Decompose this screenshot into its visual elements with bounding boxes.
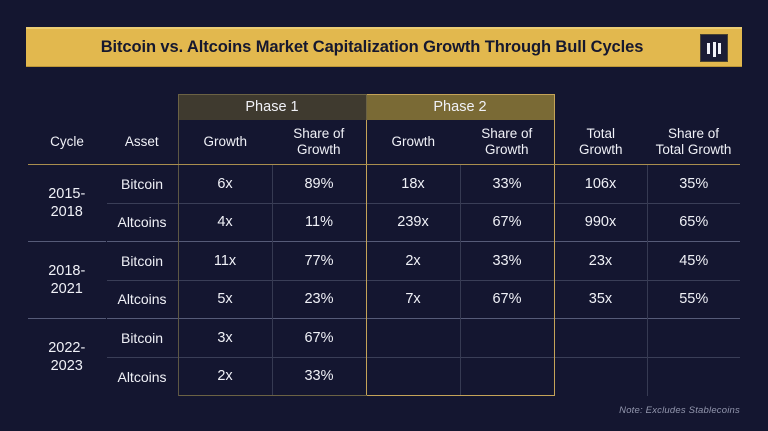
column-header-total-share: Share ofTotal Growth <box>647 120 740 165</box>
cell-p1-growth: 5x <box>178 280 272 319</box>
cell-p1-share: 33% <box>272 357 366 396</box>
cell-total-growth: 23x <box>554 242 647 281</box>
cell-p1-growth: 2x <box>178 357 272 396</box>
asset-label: Bitcoin <box>106 165 178 204</box>
cell-total-share <box>647 357 740 396</box>
table-row: 2015-2018Bitcoin6x89%18x33%106x35% <box>28 165 740 204</box>
cell-p2-growth: 18x <box>366 165 460 204</box>
cell-p1-growth: 6x <box>178 165 272 204</box>
cell-p2-growth: 7x <box>366 280 460 319</box>
cell-total-growth: 35x <box>554 280 647 319</box>
table-row: Altcoins5x23%7x67%35x55% <box>28 280 740 319</box>
cell-total-growth <box>554 357 647 396</box>
cell-p2-share: 67% <box>460 280 554 319</box>
three-bars-logo-icon <box>700 34 728 62</box>
asset-label: Altcoins <box>106 280 178 319</box>
cell-p1-growth: 4x <box>178 203 272 242</box>
cell-p2-share <box>460 319 554 358</box>
total-share-spacer <box>647 95 740 120</box>
cell-total-share: 45% <box>647 242 740 281</box>
column-header-total-growth: TotalGrowth <box>554 120 647 165</box>
cell-p2-growth <box>366 319 460 358</box>
cell-total-share: 55% <box>647 280 740 319</box>
cell-p2-share: 33% <box>460 165 554 204</box>
asset-label: Altcoins <box>106 357 178 396</box>
table-row: Altcoins2x33% <box>28 357 740 396</box>
column-header-p1-growth: Growth <box>178 120 272 165</box>
group-header-row: Phase 1Phase 2 <box>28 95 740 120</box>
comparison-table-wrapper: Phase 1Phase 2CycleAssetGrowthShare ofGr… <box>28 94 740 396</box>
cell-p1-growth: 11x <box>178 242 272 281</box>
cycle-label: 2022-2023 <box>28 319 106 396</box>
cell-p1-share: 23% <box>272 280 366 319</box>
column-header-cycle: Cycle <box>28 120 106 165</box>
column-header-p2-growth: Growth <box>366 120 460 165</box>
cycle-label: 2018-2021 <box>28 242 106 319</box>
cell-p2-growth: 2x <box>366 242 460 281</box>
title-bar: Bitcoin vs. Altcoins Market Capitalizati… <box>26 27 742 67</box>
column-header-row: CycleAssetGrowthShare ofGrowthGrowthShar… <box>28 120 740 165</box>
cycle-spacer <box>28 95 106 120</box>
cell-total-share: 65% <box>647 203 740 242</box>
group-header-phase-2: Phase 2 <box>366 95 554 120</box>
table-row: Altcoins4x11%239x67%990x65% <box>28 203 740 242</box>
column-header-asset: Asset <box>106 120 178 165</box>
cell-p2-share: 67% <box>460 203 554 242</box>
table-row: 2022-2023Bitcoin3x67% <box>28 319 740 358</box>
column-header-p1-share: Share ofGrowth <box>272 120 366 165</box>
cell-p1-share: 77% <box>272 242 366 281</box>
comparison-table: Phase 1Phase 2CycleAssetGrowthShare ofGr… <box>28 94 740 396</box>
asset-label: Bitcoin <box>106 242 178 281</box>
cell-p2-growth: 239x <box>366 203 460 242</box>
cell-total-growth: 106x <box>554 165 647 204</box>
cell-total-share: 35% <box>647 165 740 204</box>
cell-p1-share: 67% <box>272 319 366 358</box>
cell-total-growth: 990x <box>554 203 647 242</box>
cell-p1-share: 89% <box>272 165 366 204</box>
cycle-label: 2015-2018 <box>28 165 106 242</box>
cell-p2-share: 33% <box>460 242 554 281</box>
cell-total-share <box>647 319 740 358</box>
column-header-p2-share: Share ofGrowth <box>460 120 554 165</box>
group-header-phase-1: Phase 1 <box>178 95 366 120</box>
cell-total-growth <box>554 319 647 358</box>
asset-label: Bitcoin <box>106 319 178 358</box>
footnote-note: Note: Excludes Stablecoins <box>619 405 740 416</box>
cell-p2-growth <box>366 357 460 396</box>
asset-label: Altcoins <box>106 203 178 242</box>
asset-spacer <box>106 95 178 120</box>
total-growth-spacer <box>554 95 647 120</box>
page-title: Bitcoin vs. Altcoins Market Capitalizati… <box>44 38 700 57</box>
cell-p2-share <box>460 357 554 396</box>
table-row: 2018-2021Bitcoin11x77%2x33%23x45% <box>28 242 740 281</box>
cell-p1-growth: 3x <box>178 319 272 358</box>
cell-p1-share: 11% <box>272 203 366 242</box>
